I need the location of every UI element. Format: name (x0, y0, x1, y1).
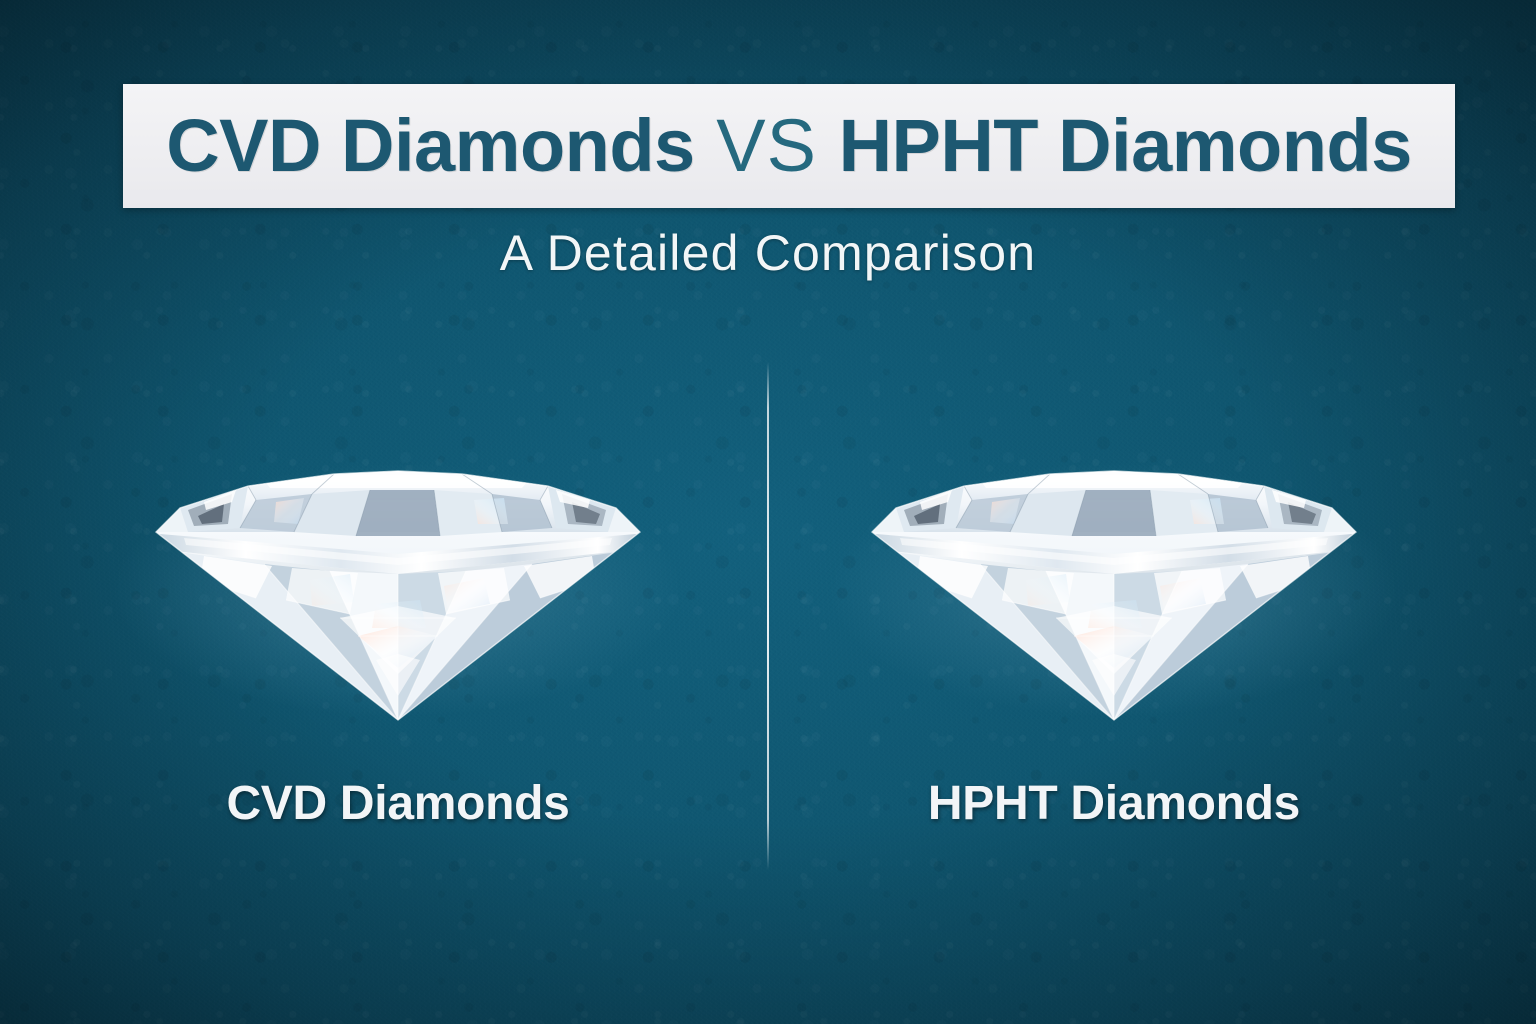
round-brilliant-diamond-icon (144, 428, 652, 728)
panel-cvd: CVD Diamonds (44, 400, 752, 880)
title-vs: VS (695, 104, 839, 187)
diamond-image-hpht (860, 428, 1368, 728)
panel-hpht: HPHT Diamonds (760, 400, 1468, 880)
page-subtitle: A Detailed Comparison (0, 228, 1536, 278)
title-bar: CVD Diamonds VS HPHT Diamonds (123, 84, 1455, 208)
infographic-poster: CVD Diamonds VS HPHT Diamonds A Detailed… (0, 0, 1536, 1024)
title-part-cvd: CVD Diamonds (166, 104, 695, 187)
round-brilliant-diamond-icon (860, 428, 1368, 728)
panel-label-cvd: CVD Diamonds (44, 780, 752, 828)
page-title: CVD Diamonds VS HPHT Diamonds (166, 109, 1412, 183)
panel-label-hpht: HPHT Diamonds (760, 780, 1468, 828)
title-part-hpht: HPHT Diamonds (839, 104, 1412, 187)
diamond-image-cvd (144, 428, 652, 728)
